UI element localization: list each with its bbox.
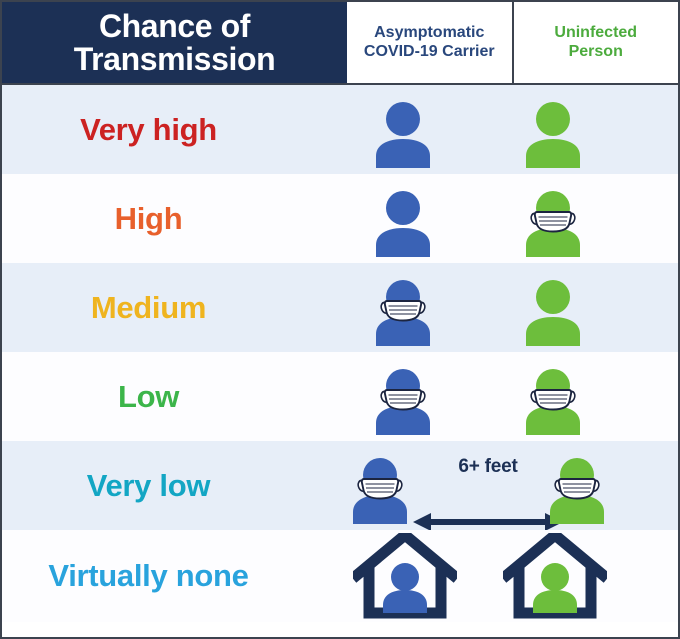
row-figures bbox=[347, 352, 678, 441]
row-figures bbox=[347, 174, 678, 263]
header-column-uninfected-line1: Uninfected bbox=[554, 24, 637, 41]
person-icon-uninfected-masked bbox=[539, 448, 615, 524]
transmission-row: Very high bbox=[2, 85, 678, 174]
infographic-header: Chance of Transmission Asymptomatic COVI… bbox=[0, 0, 680, 85]
row-label-high: High bbox=[2, 201, 347, 237]
transmission-row: Medium bbox=[2, 263, 678, 352]
row-label-medium: Medium bbox=[2, 290, 347, 326]
row-figures: 6+ feet bbox=[347, 441, 678, 530]
row-figures bbox=[347, 263, 678, 352]
transmission-row: Very low 6+ feet bbox=[2, 441, 678, 530]
house-icon-carrier bbox=[353, 533, 457, 619]
transmission-row: Virtually none bbox=[2, 530, 678, 622]
row-figures bbox=[347, 85, 678, 174]
person-icon-carrier bbox=[365, 92, 441, 168]
person-icon-uninfected-masked bbox=[515, 359, 591, 435]
header-column-carrier-line2: COVID-19 Carrier bbox=[364, 43, 495, 60]
transmission-rows: Very high High Medium bbox=[0, 85, 680, 639]
header-title: Chance of Transmission bbox=[2, 2, 347, 83]
row-label-low: Low bbox=[2, 379, 347, 415]
header-column-carrier-line1: Asymptomatic bbox=[374, 24, 484, 41]
row-label-virtually-none: Virtually none bbox=[2, 558, 347, 594]
person-icon-uninfected bbox=[515, 270, 591, 346]
house-icon-uninfected bbox=[503, 533, 607, 619]
transmission-chance-infographic: Chance of Transmission Asymptomatic COVI… bbox=[0, 0, 680, 639]
person-icon-carrier-masked bbox=[365, 359, 441, 435]
person-icon-carrier bbox=[365, 181, 441, 257]
person-icon-carrier-masked bbox=[365, 270, 441, 346]
row-label-very-high: Very high bbox=[2, 112, 347, 148]
header-column-uninfected-line2: Person bbox=[569, 43, 623, 60]
person-icon-uninfected bbox=[515, 92, 591, 168]
person-icon-carrier-masked bbox=[342, 448, 418, 524]
header-column-uninfected: Uninfected Person bbox=[514, 2, 679, 83]
header-title-line2: Transmission bbox=[74, 41, 276, 77]
transmission-row: High bbox=[2, 174, 678, 263]
row-label-very-low: Very low bbox=[2, 468, 347, 504]
person-icon-uninfected-masked bbox=[515, 181, 591, 257]
header-title-line1: Chance of bbox=[99, 8, 250, 44]
transmission-row: Low bbox=[2, 352, 678, 441]
row-figures bbox=[347, 530, 678, 622]
header-column-carrier: Asymptomatic COVID-19 Carrier bbox=[347, 2, 514, 83]
